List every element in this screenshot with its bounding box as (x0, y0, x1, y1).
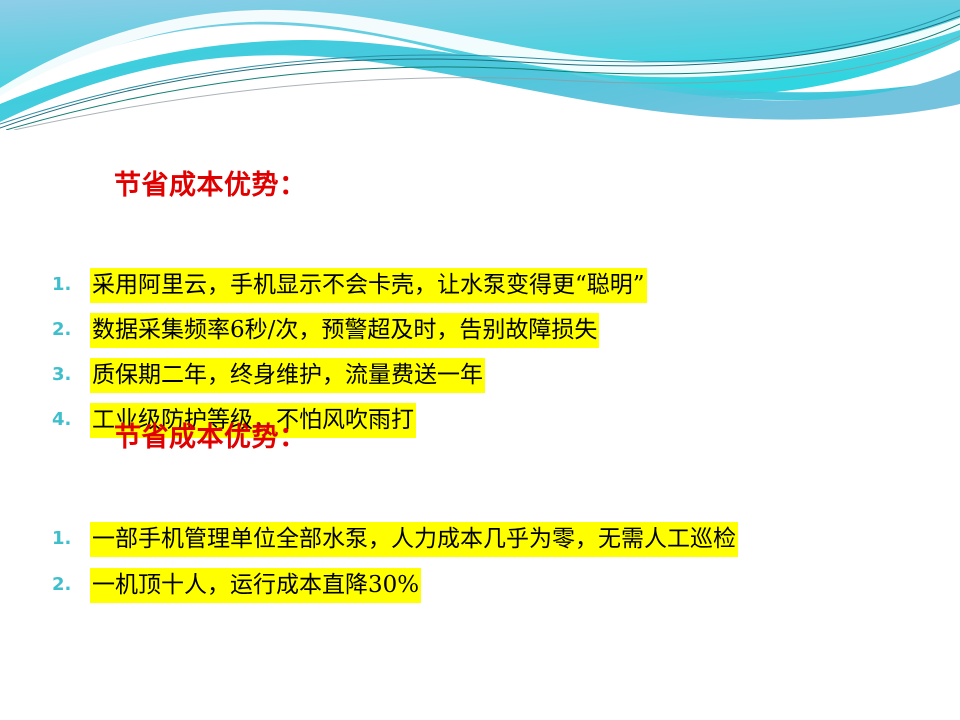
section-heading-1: 节省成本优势： (0, 166, 960, 206)
list-marker: 2. (52, 562, 82, 608)
section-cost-saving-advantage-2: 节省成本优势： 1. 一部手机管理单位全部水泵，人力成本几乎为零，无需人工巡检 … (0, 418, 960, 608)
bullet-list-2: 1. 一部手机管理单位全部水泵，人力成本几乎为零，无需人工巡检 2. 一机顶十人… (0, 516, 960, 608)
list-item-text: 一部手机管理单位全部水泵，人力成本几乎为零，无需人工巡检 (90, 522, 738, 557)
list-item[interactable]: 2. 一机顶十人，运行成本直降30% (0, 562, 960, 608)
section-heading-2: 节省成本优势： (0, 418, 960, 458)
slide-canvas: 节省成本优势： 1. 采用阿里云，手机显示不会卡壳，让水泵变得更“聪明” 2. … (0, 0, 960, 720)
list-item-text: 质保期二年，终身维护，流量费送一年 (90, 358, 485, 393)
list-marker: 2. (52, 307, 82, 352)
bullet-list-1: 1. 采用阿里云，手机显示不会卡壳，让水泵变得更“聪明” 2. 数据采集频率6秒… (0, 262, 960, 442)
list-marker: 1. (52, 516, 82, 562)
list-item[interactable]: 3. 质保期二年，终身维护，流量费送一年 (0, 352, 960, 397)
section-cost-saving-advantage-1: 节省成本优势： 1. 采用阿里云，手机显示不会卡壳，让水泵变得更“聪明” 2. … (0, 166, 960, 442)
list-item-text: 采用阿里云，手机显示不会卡壳，让水泵变得更“聪明” (90, 268, 647, 303)
list-marker: 1. (52, 262, 82, 307)
slide-content: 节省成本优势： 1. 采用阿里云，手机显示不会卡壳，让水泵变得更“聪明” 2. … (0, 0, 960, 720)
list-item[interactable]: 2. 数据采集频率6秒/次，预警超及时，告别故障损失 (0, 307, 960, 352)
list-marker: 3. (52, 352, 82, 397)
list-item-text: 一机顶十人，运行成本直降30% (90, 568, 421, 603)
list-item[interactable]: 1. 一部手机管理单位全部水泵，人力成本几乎为零，无需人工巡检 (0, 516, 960, 562)
list-item-text: 数据采集频率6秒/次，预警超及时，告别故障损失 (90, 313, 599, 348)
list-item[interactable]: 1. 采用阿里云，手机显示不会卡壳，让水泵变得更“聪明” (0, 262, 960, 307)
